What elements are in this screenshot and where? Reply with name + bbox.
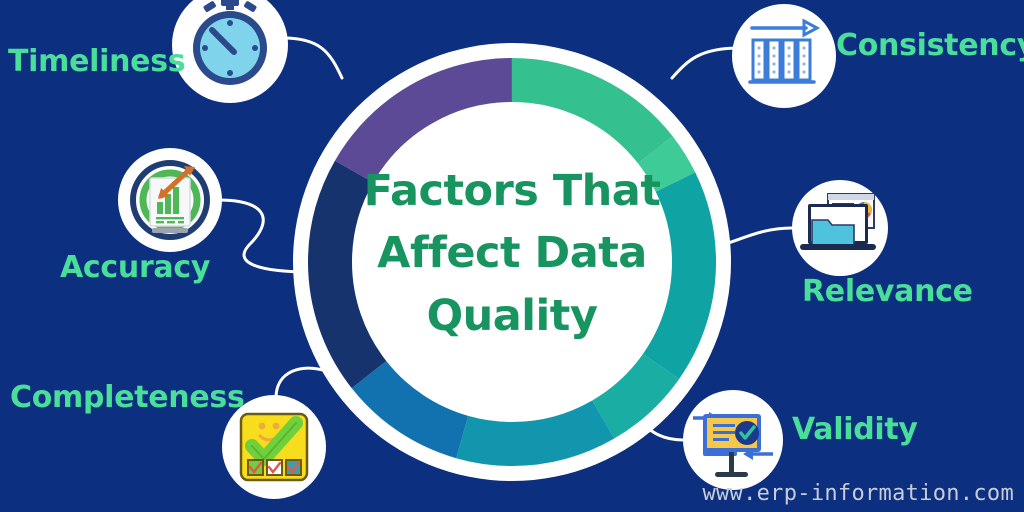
factor-label-completeness: Completeness — [10, 380, 245, 415]
title-line-3: Quality — [332, 285, 692, 347]
icon-bubble-accuracy[interactable] — [118, 148, 222, 252]
site-watermark: www.erp-information.com — [702, 481, 1014, 506]
icon-bubble-timeliness[interactable] — [172, 0, 288, 103]
factor-label-validity: Validity — [792, 412, 918, 447]
connector-consistency — [672, 48, 740, 78]
factor-label-consistency: Consistency — [836, 28, 1024, 63]
icon-bubble-relevance[interactable] — [792, 180, 888, 276]
factor-label-relevance: Relevance — [802, 274, 973, 309]
icon-bubble-validity[interactable] — [683, 390, 783, 490]
icon-bubble-consistency[interactable] — [732, 4, 836, 108]
factor-label-accuracy: Accuracy — [60, 250, 210, 285]
page-title: Factors That Affect Data Quality — [332, 160, 692, 347]
title-line-1: Factors That — [332, 160, 692, 222]
factor-label-timeliness: Timeliness — [8, 44, 185, 79]
connector-timeliness — [283, 38, 342, 78]
target-report-icon — [133, 163, 207, 237]
title-line-2: Affect Data — [332, 222, 692, 284]
infographic-canvas: Factors That Affect Data Quality Timelin… — [0, 0, 1024, 512]
checklist-card-icon — [241, 414, 307, 480]
